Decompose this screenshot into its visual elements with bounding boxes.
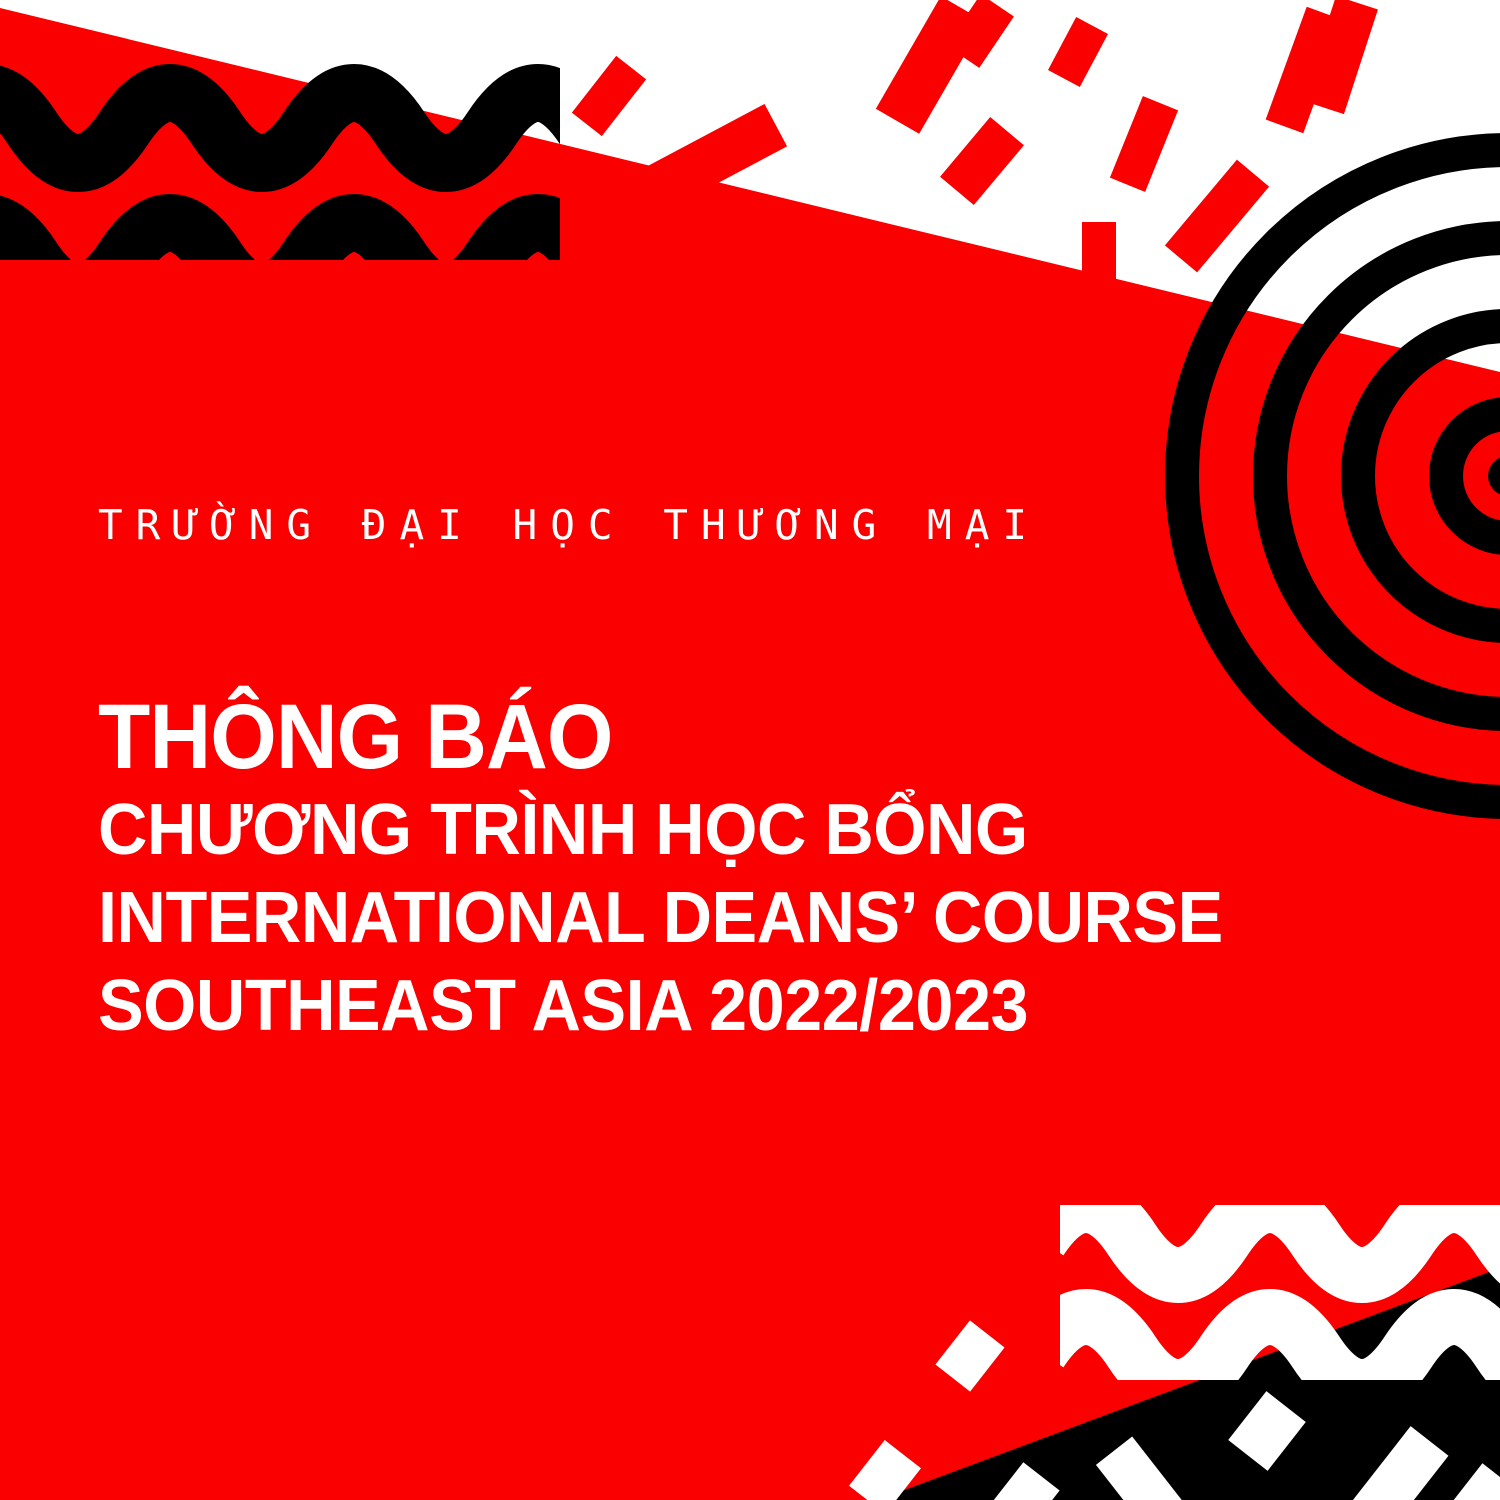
- poster-text-block: TRƯỜNG ĐẠI HỌC THƯƠNG MẠI THÔNG BÁO CHƯƠ…: [98, 505, 1158, 1050]
- page-title: THÔNG BÁO: [98, 691, 1084, 783]
- subtitle-line-3: SOUTHEAST ASIA 2022/2023: [98, 963, 1105, 1051]
- organization-name: TRƯỜNG ĐẠI HỌC THƯƠNG MẠI: [98, 505, 1158, 546]
- poster-canvas: TRƯỜNG ĐẠI HỌC THƯƠNG MẠI THÔNG BÁO CHƯƠ…: [0, 0, 1500, 1500]
- red-dash-7: [1082, 222, 1116, 290]
- subtitle-line-1: CHƯƠNG TRÌNH HỌC BỔNG: [98, 787, 1105, 875]
- subtitle-line-2: INTERNATIONAL DEANS’ COURSE: [98, 875, 1105, 963]
